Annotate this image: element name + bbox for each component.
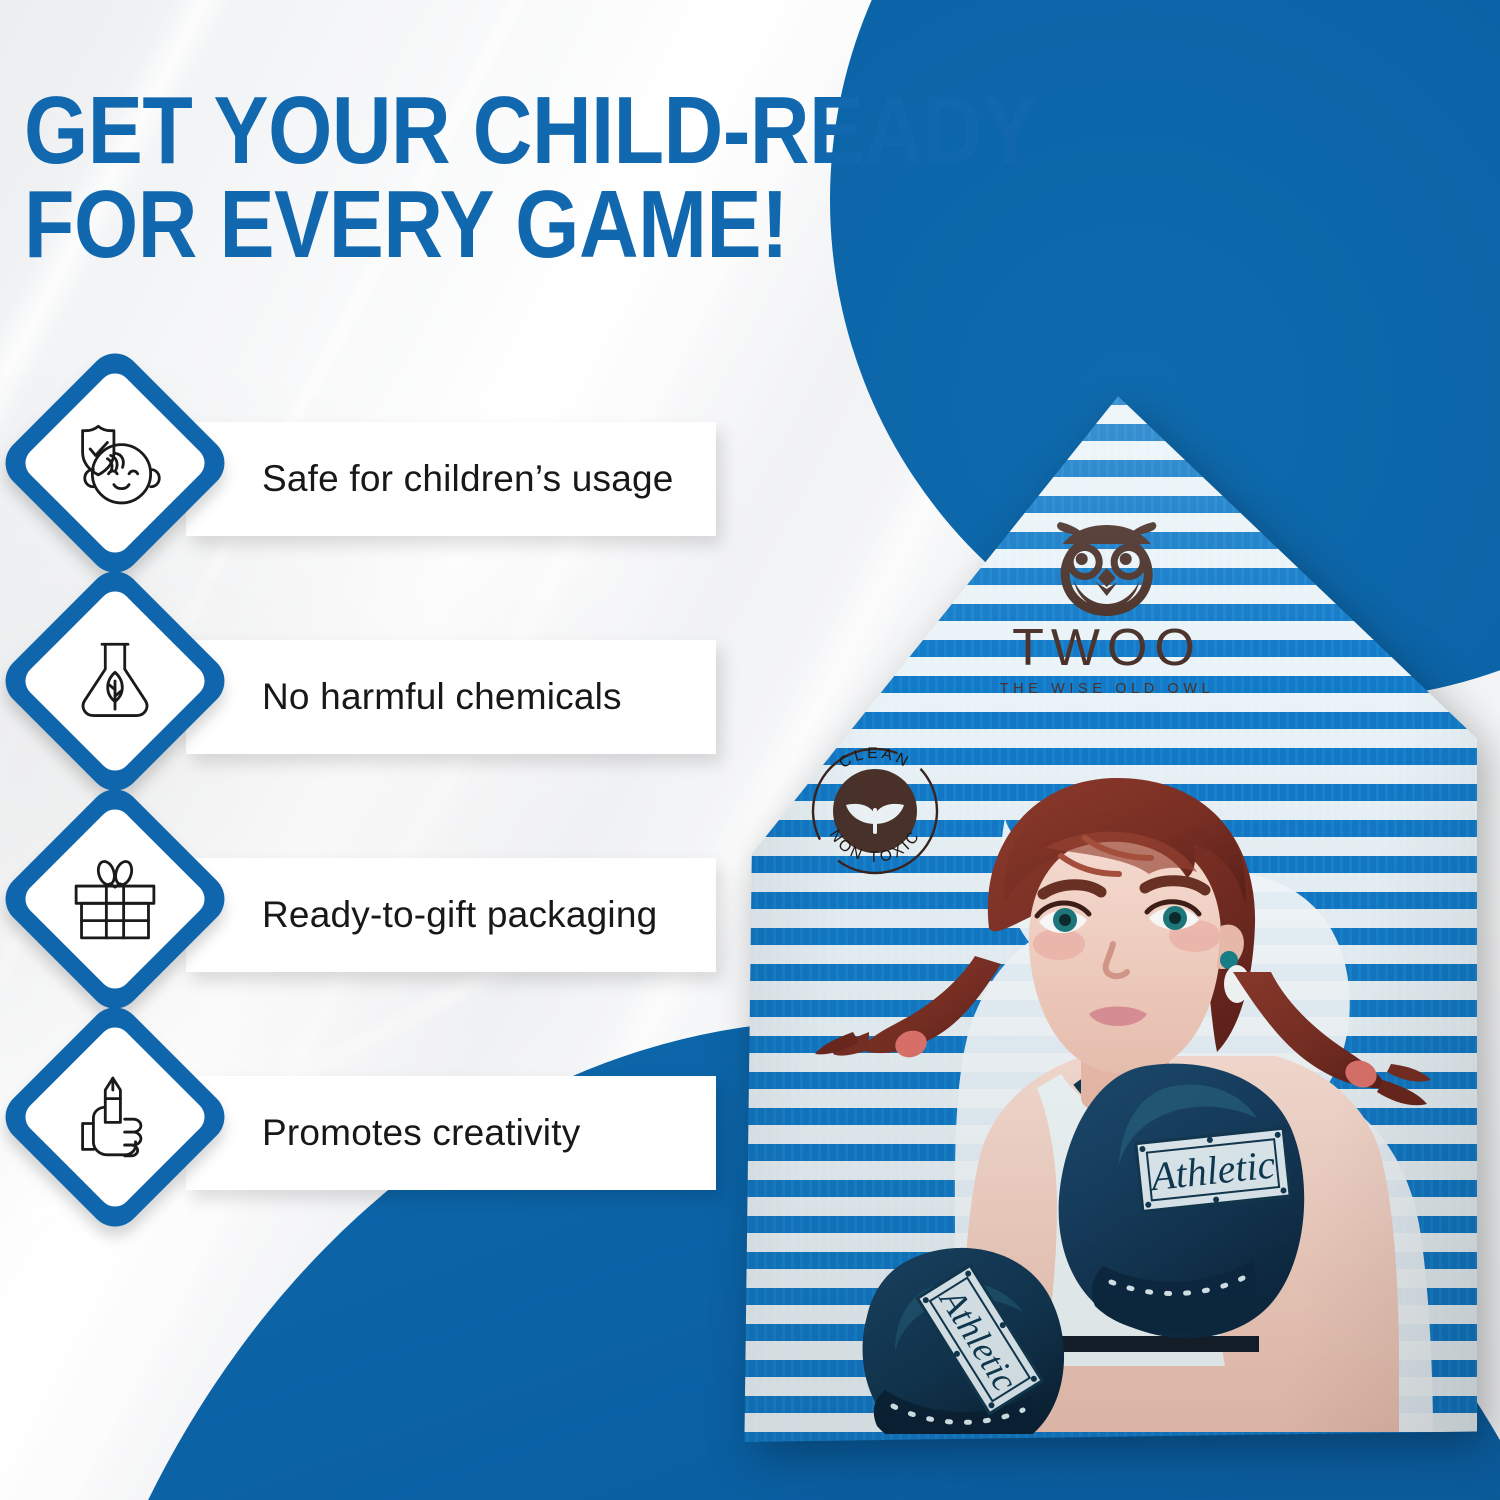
feature-row: Safe for children’s usage (0, 370, 760, 588)
feature-row: Ready-to-gift packaging (0, 806, 760, 1024)
baby-shield-icon (47, 395, 183, 531)
infographic-canvas: GET YOUR CHILD-READY FOR EVERY GAME! Saf… (0, 0, 1500, 1500)
feature-badge-inner (19, 803, 211, 995)
feature-label-bar: Ready-to-gift packaging (186, 858, 716, 972)
feature-badge (0, 561, 235, 801)
feature-label-bar: Safe for children’s usage (186, 422, 716, 536)
hand-pencil-icon (47, 1049, 183, 1185)
feature-label: Safe for children’s usage (186, 458, 674, 500)
feature-label: Ready-to-gift packaging (186, 894, 657, 936)
feature-label: No harmful chemicals (186, 676, 622, 718)
feature-badge-inner (19, 1021, 211, 1213)
feature-badge-inner (19, 585, 211, 777)
page-title: GET YOUR CHILD-READY FOR EVERY GAME! (24, 84, 1039, 272)
feature-badge (0, 343, 235, 583)
package-shading (737, 392, 1477, 1442)
gift-box-icon (47, 831, 183, 967)
feature-row: Promotes creativity (0, 1024, 760, 1242)
feature-label-bar: No harmful chemicals (186, 640, 716, 754)
feature-label: Promotes creativity (186, 1112, 580, 1154)
feature-row: No harmful chemicals (0, 588, 760, 806)
feature-label-bar: Promotes creativity (186, 1076, 716, 1190)
headline-line-2: FOR EVERY GAME! (24, 178, 1039, 272)
product-package: TWOO THE WISE OLD OWL CL (737, 392, 1477, 1442)
feature-list: Safe for children’s usage (0, 370, 760, 1242)
feature-badge-inner (19, 367, 211, 559)
headline-line-1: GET YOUR CHILD-READY (24, 84, 1039, 178)
feature-badge (0, 779, 235, 1019)
package-face: TWOO THE WISE OLD OWL CL (737, 392, 1477, 1442)
feature-badge (0, 997, 235, 1237)
flask-leaf-icon (47, 613, 183, 749)
